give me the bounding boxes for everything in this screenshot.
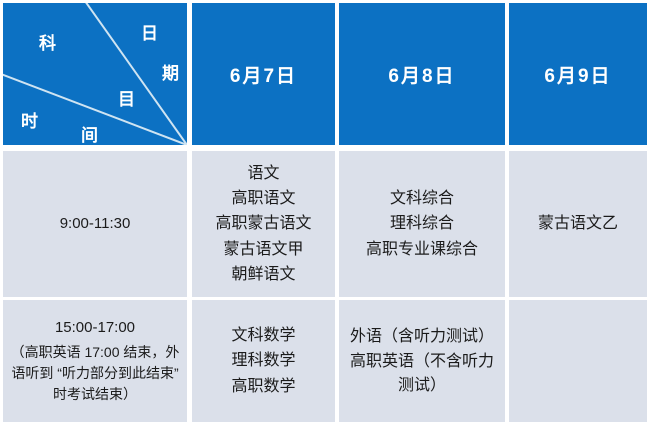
- subject-item: 文科综合: [390, 186, 454, 211]
- subject-item: 高职数学: [231, 374, 295, 399]
- subject-item: 高职语文: [231, 186, 295, 211]
- subject-item: 理科综合: [390, 211, 454, 236]
- row-subject-cell-date-1: 文科数学 理科数学 高职数学: [192, 300, 335, 422]
- header-column-date-3: 6月9日: [509, 3, 647, 145]
- header-date-label: 6月8日: [388, 61, 455, 88]
- table-row: 15:00-17:00 （高职英语 17:00 结束，外语听到 “听力部分到此结…: [0, 300, 650, 422]
- row-subject-cell-date-1: 语文 高职语文 高职蒙古语文 蒙古语文甲 朝鲜语文: [192, 151, 335, 297]
- subject-item: 蒙古语文甲: [223, 237, 303, 262]
- time-range-label: 9:00-11:30: [60, 213, 131, 235]
- corner-label-time-2: 间: [81, 127, 98, 144]
- header-date-label: 6月7日: [230, 61, 297, 88]
- corner-label-subject-1: 科: [39, 35, 56, 52]
- subject-item: 蒙古语文乙: [538, 211, 618, 236]
- corner-label-date-2: 期: [162, 65, 179, 82]
- row-subject-cell-date-3: [509, 300, 647, 422]
- subject-item: 高职英语（不含听力测试）: [339, 350, 505, 398]
- exam-schedule-table: 日 期 科 目 时 间 6月7日 6月8日 6月9日 9:00-11:30 语文…: [0, 0, 650, 425]
- table-row: 9:00-11:30 语文 高职语文 高职蒙古语文 蒙古语文甲 朝鲜语文 文科综…: [0, 151, 650, 297]
- subject-item: 朝鲜语文: [231, 262, 295, 287]
- row-time-cell: 15:00-17:00 （高职英语 17:00 结束，外语听到 “听力部分到此结…: [3, 300, 187, 422]
- subject-item: 语文: [247, 161, 279, 186]
- subject-item: 文科数学: [231, 323, 295, 348]
- corner-label-time-1: 时: [21, 113, 38, 130]
- table-header-row: 日 期 科 目 时 间 6月7日 6月8日 6月9日: [0, 0, 650, 148]
- time-range-label: 15:00-17:00: [55, 317, 135, 339]
- row-subject-cell-date-2: 外语（含听力测试） 高职英语（不含听力测试）: [339, 300, 505, 422]
- header-corner-cell: 日 期 科 目 时 间: [3, 3, 187, 145]
- row-subject-cell-date-3: 蒙古语文乙: [509, 151, 647, 297]
- corner-label-subject-2: 目: [118, 91, 135, 108]
- row-time-cell: 9:00-11:30: [3, 151, 187, 297]
- subject-item: 理科数学: [231, 348, 295, 373]
- header-column-date-1: 6月7日: [192, 3, 335, 145]
- header-column-date-2: 6月8日: [339, 3, 505, 145]
- header-date-label: 6月9日: [544, 61, 611, 88]
- time-note-label: （高职英语 17:00 结束，外语听到 “听力部分到此结束” 时考试结束）: [3, 342, 187, 405]
- subject-item: 外语（含听力测试）: [350, 324, 494, 349]
- row-subject-cell-date-2: 文科综合 理科综合 高职专业课综合: [339, 151, 505, 297]
- subject-item: 高职蒙古语文: [215, 211, 311, 236]
- corner-label-date-1: 日: [141, 25, 158, 42]
- subject-item: 高职专业课综合: [366, 237, 478, 262]
